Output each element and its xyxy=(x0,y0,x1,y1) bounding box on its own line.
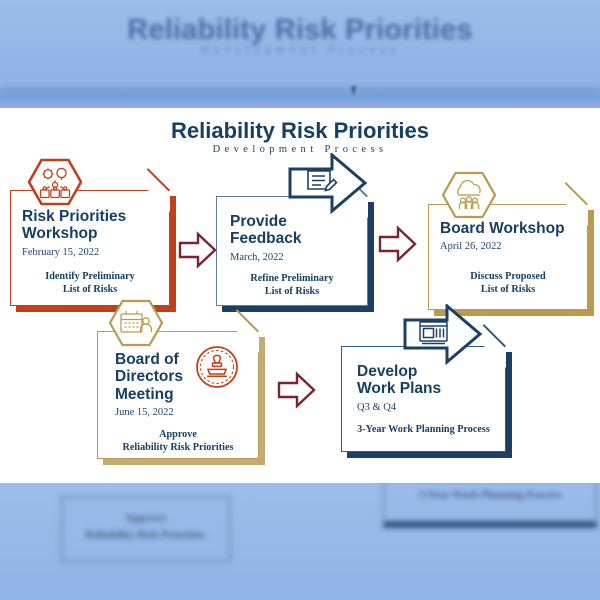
card-title-line2: Workshop xyxy=(22,225,98,242)
card-title-line1: Board Workshop xyxy=(440,220,565,237)
background-ghost-card-left-line2: Reliability Risk Priorities xyxy=(63,529,228,541)
card-desc-line1: Discuss Proposed xyxy=(470,271,545,282)
folded-corner-icon xyxy=(237,331,259,353)
card-title-line1: Risk Priorities xyxy=(22,208,126,225)
card-date: March, 2022 xyxy=(230,252,358,263)
approval-stamp-icon xyxy=(195,345,239,394)
card-desc-line2: List of Risks xyxy=(265,286,319,297)
card-heading: Board Workshop April 26, 2022 xyxy=(440,220,580,252)
background-band xyxy=(0,88,600,98)
card-description: Approve Reliability Risk Priorities xyxy=(101,428,255,454)
card-description: 3-Year Work Planning Process xyxy=(345,423,502,436)
card-title-line3: Meeting xyxy=(115,386,174,403)
background-ghost-card-left: Approve Reliability Risk Priorities xyxy=(60,495,231,563)
card-description: Identify Preliminary List of Risks xyxy=(16,270,164,296)
background-ghost-card-right-line1: 3-Year Work Planning Process xyxy=(385,489,595,501)
connector-arrow-4-to-5 xyxy=(277,370,317,415)
background-ghost-card-left-line1: Approve xyxy=(63,512,228,524)
diagram-panel: Reliability Risk Priorities Development … xyxy=(0,108,600,483)
card-heading: Provide Feedback March, 2022 xyxy=(230,213,358,263)
step-card-risk-priorities-workshop[interactable]: Risk Priorities Workshop February 15, 20… xyxy=(10,190,170,306)
step-card-develop-work-plans[interactable]: Develop Work Plans Q3 & Q4 3-Year Work P… xyxy=(341,346,506,452)
connector-arrow-2-to-3 xyxy=(378,224,418,269)
card-desc-line2: List of Risks xyxy=(481,284,535,295)
step-card-provide-feedback[interactable]: Provide Feedback March, 2022 Refine Prel… xyxy=(216,196,368,306)
card-desc-line2: Reliability Risk Priorities xyxy=(123,442,234,453)
badge-hexagon-group-people xyxy=(442,171,496,219)
card-desc-line1: Identify Preliminary xyxy=(45,271,135,282)
card-date: February 15, 2022 xyxy=(22,247,160,258)
background-ghost-subtitle: Development Process xyxy=(0,42,600,57)
card-desc-line1: Approve xyxy=(159,429,197,440)
badge-arrow-edit-document xyxy=(288,153,368,220)
card-desc-line1: 3-Year Work Planning Process xyxy=(357,424,490,435)
card-desc-line2: List of Risks xyxy=(63,284,117,295)
card-title-line1: Board of xyxy=(115,351,179,368)
card-title-line2: Feedback xyxy=(230,230,302,247)
card-date: April 26, 2022 xyxy=(440,241,580,252)
step-card-board-workshop[interactable]: Board Workshop April 26, 2022 Discuss Pr… xyxy=(428,204,588,310)
card-desc-line1: Refine Preliminary xyxy=(250,273,333,284)
card-date: June 15, 2022 xyxy=(115,407,251,418)
background-ghost-card-right: 3-Year Work Planning Process xyxy=(382,478,598,528)
card-heading: Risk Priorities Workshop February 15, 20… xyxy=(22,208,160,258)
badge-hexagon-risk-network xyxy=(28,158,82,206)
card-date: Q3 & Q4 xyxy=(357,402,498,413)
card-title-line1: Provide xyxy=(230,213,287,230)
step-card-board-of-directors-meeting[interactable]: Board of Directors Meeting June 15, 2022… xyxy=(97,331,259,459)
connector-arrow-1-to-2 xyxy=(178,230,218,275)
page-title: Reliability Risk Priorities xyxy=(0,118,600,144)
badge-arrow-presentation-board xyxy=(403,304,483,371)
card-description: Refine Preliminary List of Risks xyxy=(222,272,362,298)
badge-hexagon-calendar-event xyxy=(109,299,163,347)
card-description: Discuss Proposed List of Risks xyxy=(434,270,582,296)
card-title-line2: Work Plans xyxy=(357,380,441,397)
card-title-line2: Directors xyxy=(115,368,183,385)
